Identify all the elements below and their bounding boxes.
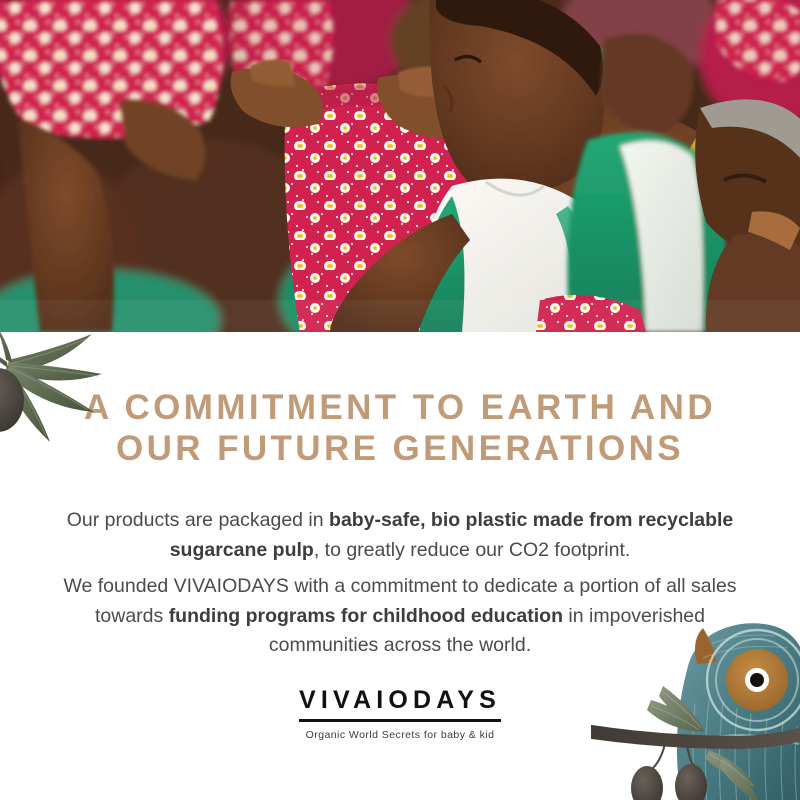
hero-photo-illustration: [0, 0, 800, 332]
owl-olive-left: [631, 766, 663, 800]
olive-branch-svg: [0, 326, 114, 456]
paragraph-packaging-part-3: , to greatly reduce our CO2 footprint.: [314, 539, 631, 561]
hero-photo: [0, 0, 800, 332]
owl-illustration: [591, 618, 800, 800]
paragraph-packaging-part-1: Our products are packaged in: [67, 509, 329, 531]
page-title: A COMMITMENT TO EARTH AND OUR FUTURE GEN…: [0, 388, 800, 470]
olive-branch-illustration: [0, 326, 114, 456]
owl-svg: [591, 618, 800, 800]
paragraph-packaging: Our products are packaged in baby-safe, …: [50, 506, 750, 565]
paragraph-mission-part-2: funding programs for childhood education: [169, 605, 563, 627]
poster: A COMMITMENT TO EARTH AND OUR FUTURE GEN…: [0, 0, 800, 800]
brand-wordmark: VIVAIODAYS: [299, 688, 501, 722]
